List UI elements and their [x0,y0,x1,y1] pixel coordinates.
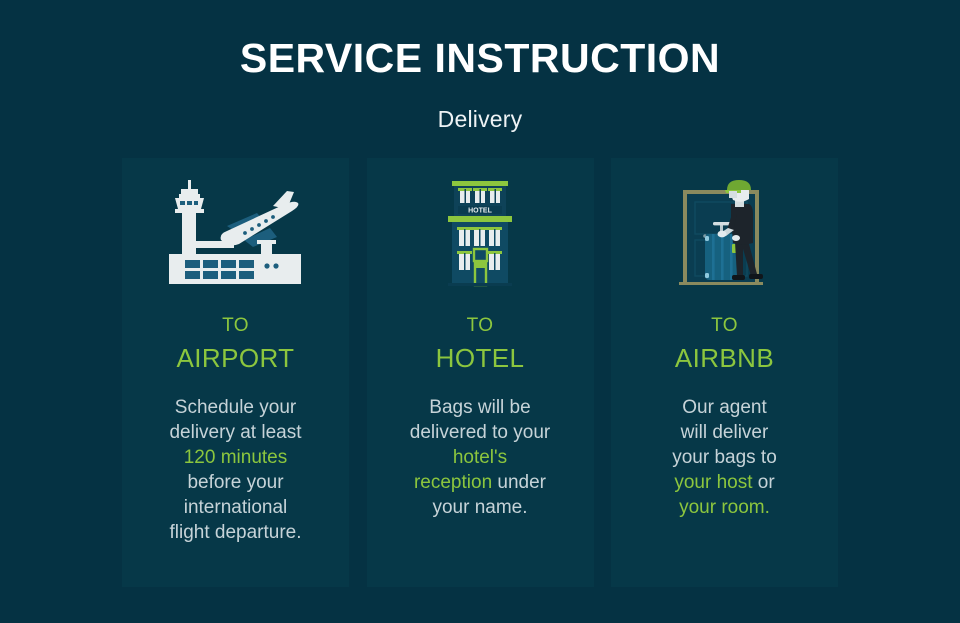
body-line: Our agent [682,397,767,418]
card-to-label: TO [711,308,738,335]
airbnb-delivery-icon-wrap [611,158,838,308]
card-destination-airport: AIRPORT [177,335,295,371]
body-line: or [752,472,774,493]
hotel-icon-wrap: HOTEL [367,158,594,308]
instruction-card-hotel: HOTEL [367,158,594,587]
instruction-card-airport: TO AIRPORT Schedule your delivery at lea… [122,158,349,587]
body-line: delivered to your [410,422,550,443]
instruction-cards: TO AIRPORT Schedule your delivery at lea… [122,158,838,587]
page-header: SERVICE INSTRUCTION Delivery [0,0,960,133]
body-line: international [184,497,288,518]
card-to-label: TO [222,308,249,335]
hotel-sign-text: HOTEL [468,208,492,215]
body-line-highlight: your room. [679,497,770,518]
card-destination-hotel: HOTEL [436,335,525,371]
card-to-label: TO [467,308,494,335]
airport-icon [161,178,311,293]
body-line: delivery at least [169,422,301,443]
body-line-highlight: 120 minutes [184,447,288,468]
body-line: will deliver [681,422,769,443]
card-body-airbnb: Our agent will deliver your bags to your… [630,371,820,520]
card-body-hotel: Bags will be delivered to your hotel's r… [385,371,575,520]
body-line: your bags to [672,447,777,468]
page-subtitle: Delivery [0,79,960,133]
body-line-highlight: hotel's [453,447,507,468]
service-instruction-page: SERVICE INSTRUCTION Delivery [0,0,960,623]
card-body-airport: Schedule your delivery at least 120 minu… [141,371,331,545]
body-line: Schedule your [175,397,296,418]
page-title: SERVICE INSTRUCTION [0,38,960,79]
airport-icon-wrap [122,158,349,308]
body-line: Bags will be [429,397,530,418]
body-line-highlight: reception [414,472,492,493]
body-line-highlight: your host [674,472,752,493]
hotel-icon: HOTEL [442,179,518,291]
body-line: before your [187,472,283,493]
instruction-card-airbnb: TO AIRBNB Our agent will deliver your ba… [611,158,838,587]
body-line: your name. [432,497,527,518]
airbnb-delivery-icon [669,180,781,290]
card-destination-airbnb: AIRBNB [675,335,774,371]
body-line: under [492,472,546,493]
body-line: flight departure. [169,522,301,543]
